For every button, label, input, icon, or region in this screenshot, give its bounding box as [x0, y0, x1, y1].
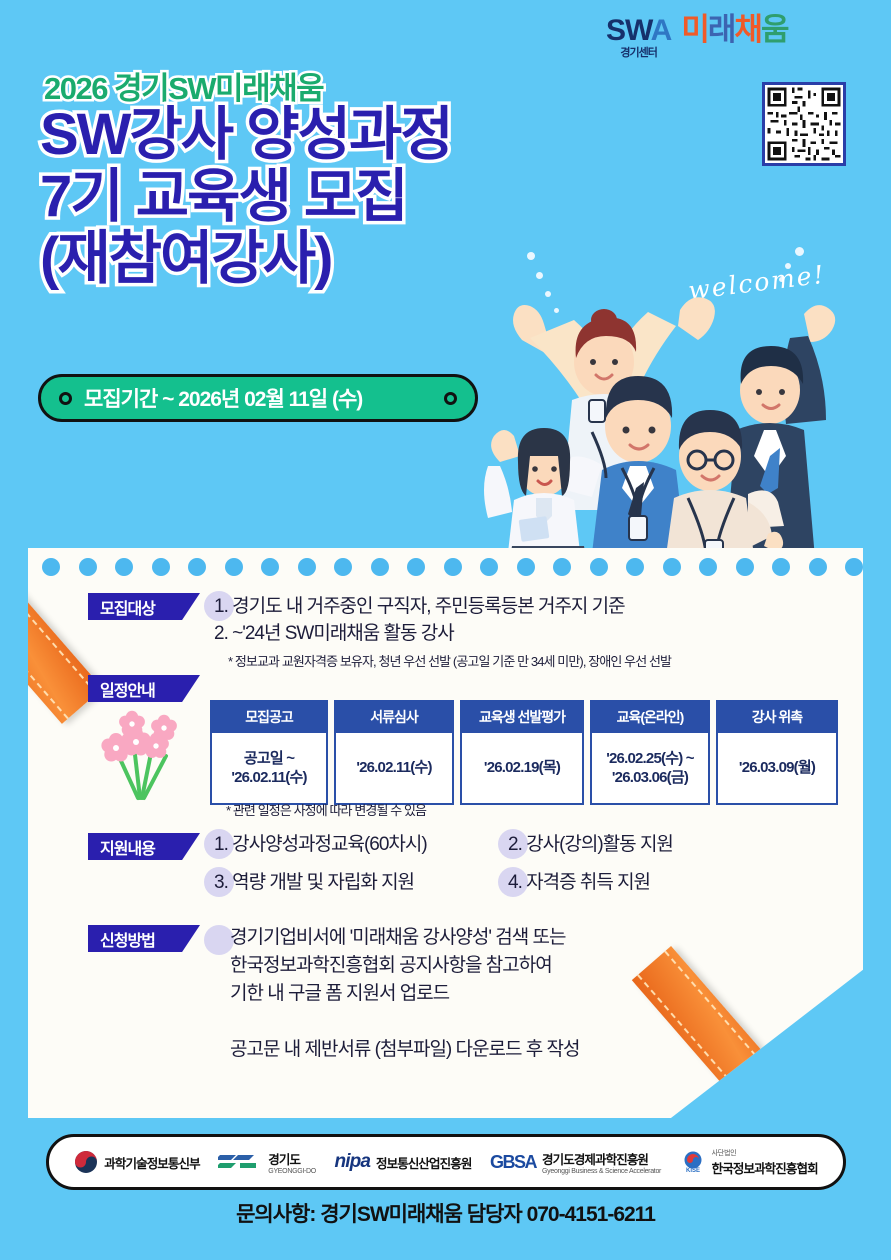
schedule-cell: 서류심사 '26.02.11(수) [334, 700, 454, 805]
dot-icon [553, 558, 571, 576]
support-item-2: 2. 강사(강의)활동 지원 [508, 832, 673, 859]
logo-msit: 과학기술정보통신부 [74, 1150, 199, 1174]
dot-icon [809, 558, 827, 576]
dot-icon [845, 558, 863, 576]
logo-nipa: nipa 정보통신산업진흥원 [335, 1151, 472, 1173]
kise-swirl-icon: KISE [680, 1151, 706, 1173]
mirae-char-4: 움 [761, 12, 788, 47]
schedule-cell: 교육(온라인) '26.02.25(수) ~ '26.03.06(금) [590, 700, 710, 805]
apply-line-2: 한국정보과학진흥협회 공지사항을 참고하여 [230, 953, 552, 980]
target-item-2: 2. ~'24년 SW미래채움 활동 강사 [214, 621, 454, 648]
sponsor-footer: 과학기술정보통신부 경기도GYEONGGI-DO nipa 정보통신산업진흥원 … [46, 1134, 846, 1190]
nipa-mark: nipa [335, 1151, 370, 1173]
logo-msit-label: 과학기술정보통신부 [104, 1153, 199, 1172]
logo-gyeonggi-label: 경기도GYEONGGI-DO [268, 1149, 316, 1175]
schedule-header: 교육(온라인) [592, 702, 708, 733]
swa-accent-letter: A [651, 14, 672, 47]
flower-bouquet-illustration [92, 706, 192, 802]
support-item-4: 4. 자격증 취득 지원 [508, 870, 650, 897]
dot-divider [28, 558, 863, 578]
dot-icon [188, 558, 206, 576]
target-note: * 정보교과 교원자격증 보유자, 청년 우선 선발 (공고일 기준 만 34세… [228, 651, 671, 670]
schedule-cell: 강사 위촉 '26.03.09(월) [716, 700, 838, 805]
mirae-char-1: 미 [681, 12, 708, 47]
badge-target-label: 모집대상 [100, 595, 155, 619]
logo-kise: KISE 사단법인한국정보과학진흥협회 [680, 1148, 818, 1177]
dot-icon [626, 558, 644, 576]
support-item-1: 1. 강사양성과정교육(60차시) [214, 832, 427, 859]
contact-line: 문의사항: 경기SW미래채움 담당자 070-4151-6211 [0, 1198, 891, 1228]
apply-line-3: 기한 내 구글 폼 지원서 업로드 [230, 981, 449, 1008]
gyeonggi-mark-icon [218, 1152, 262, 1172]
dot-icon [772, 558, 790, 576]
dot-icon [298, 558, 316, 576]
logo-gyeonggi: 경기도GYEONGGI-DO [218, 1149, 316, 1175]
dot-icon [334, 558, 352, 576]
dot-icon [663, 558, 681, 576]
badge-target: 모집대상 [88, 593, 200, 620]
svg-text:KISE: KISE [686, 1168, 700, 1173]
dot-icon [371, 558, 389, 576]
dot-icon [699, 558, 717, 576]
badge-support-label: 지원내용 [100, 835, 155, 859]
cheering-people-illustration [452, 250, 882, 570]
title-line-1: SW강사 양성과정 [40, 104, 600, 166]
schedule-value: '26.02.11(수) [336, 733, 452, 803]
title-line-2: 7기 교육생 모집 [40, 166, 600, 228]
recruitment-period-text: 모집기간 ~ 2026년 02월 11일 (수) [84, 383, 444, 413]
schedule-value: '26.02.19(목) [462, 733, 582, 803]
qr-code[interactable] [762, 82, 846, 166]
mirae-char-2: 래 [708, 12, 735, 47]
badge-apply: 신청방법 [88, 925, 200, 952]
dot-icon [79, 558, 97, 576]
ring-icon-left [59, 392, 72, 405]
schedule-table: 모집공고 공고일 ~ '26.02.11(수) 서류심사 '26.02.11(수… [210, 700, 838, 805]
apply-extra: 공고문 내 제반서류 (첨부파일) 다운로드 후 작성 [230, 1037, 579, 1064]
dot-icon [444, 558, 462, 576]
logo-kise-label: 사단법인한국정보과학진흥협회 [712, 1148, 818, 1177]
schedule-value: '26.02.25(수) ~ '26.03.06(금) [592, 733, 708, 803]
dot-icon [590, 558, 608, 576]
dot-icon [736, 558, 754, 576]
logo-gbsa: GBSA 경기도경제과학진흥원Gyeonggi Business & Scien… [490, 1149, 661, 1175]
schedule-header: 교육생 선발평가 [462, 702, 582, 733]
dot-icon [517, 558, 535, 576]
target-item-1: 1. 경기도 내 거주중인 구직자, 주민등록등본 거주지 기준 [214, 594, 625, 621]
mirae-char-3: 채 [734, 12, 761, 47]
dot-icon [152, 558, 170, 576]
dot-icon [225, 558, 243, 576]
schedule-header: 서류심사 [336, 702, 452, 733]
dot-icon [42, 558, 60, 576]
badge-apply-label: 신청방법 [100, 927, 155, 951]
badge-support: 지원내용 [88, 833, 200, 860]
swa-wordmark: SWA [606, 16, 671, 46]
schedule-value: '26.03.09(월) [718, 733, 836, 803]
swa-text: SW [606, 14, 651, 47]
dot-icon [115, 558, 133, 576]
dot-icon [407, 558, 425, 576]
schedule-cell: 모집공고 공고일 ~ '26.02.11(수) [210, 700, 328, 805]
dot-icon [261, 558, 279, 576]
schedule-header: 모집공고 [212, 702, 326, 733]
apply-line-1: 경기기업비서에 '미래채움 강사양성' 검색 또는 [230, 925, 566, 952]
logo-nipa-label: 정보통신산업진흥원 [376, 1153, 471, 1172]
schedule-header: 강사 위촉 [718, 702, 836, 733]
badge-schedule-label: 일정안내 [100, 677, 155, 701]
schedule-value: 공고일 ~ '26.02.11(수) [212, 733, 326, 803]
support-item-3: 3. 역량 개발 및 자립화 지원 [214, 870, 414, 897]
logo-gbsa-label: 경기도경제과학진흥원Gyeonggi Business & Science Ac… [542, 1149, 661, 1175]
schedule-note: * 관련 일정은 사정에 따라 변경될 수 있음 [226, 800, 426, 819]
recruitment-period-badge: 모집기간 ~ 2026년 02월 11일 (수) [38, 374, 478, 422]
badge-schedule: 일정안내 [88, 675, 200, 702]
taegeuk-icon [74, 1150, 98, 1174]
ribbon-bottom-right [632, 946, 848, 1118]
dot-icon [480, 558, 498, 576]
brand-logo: SWA 경기센터 미래채움 [606, 14, 856, 72]
schedule-cell: 교육생 선발평가 '26.02.19(목) [460, 700, 584, 805]
mirae-chaeum-logo: 미래채움 [681, 14, 787, 45]
swa-logo: SWA 경기센터 [606, 14, 671, 60]
gbsa-mark: GBSA [490, 1152, 536, 1173]
